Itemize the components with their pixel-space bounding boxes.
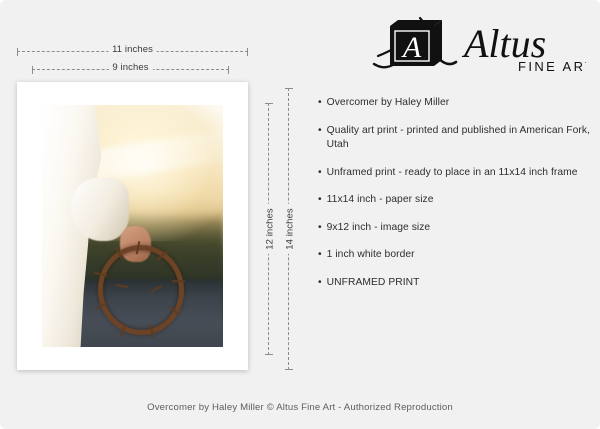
bullet-marker-icon: •	[318, 193, 322, 208]
bullet-marker-icon: •	[318, 124, 322, 153]
list-item-label: UNFRAMED PRINT	[327, 276, 590, 291]
dimension-cap-left	[32, 66, 33, 74]
list-item: • Unframed print - ready to place in an …	[318, 166, 590, 181]
bullet-marker-icon: •	[318, 248, 322, 263]
artwork-robe-sleeve	[71, 178, 129, 241]
dimension-cap-bottom	[265, 354, 273, 355]
brand-logo: A Altus FINE ART	[368, 12, 586, 74]
dimension-line-paper-width: 11 inches	[17, 51, 248, 53]
list-item-label: Unframed print - ready to place in an 11…	[327, 166, 590, 181]
list-item: • Overcomer by Haley Miller	[318, 96, 590, 111]
list-item-label: Overcomer by Haley Miller	[327, 96, 590, 111]
bullet-marker-icon: •	[318, 221, 322, 236]
artwork-image	[42, 105, 223, 347]
product-details-list: • Overcomer by Haley Miller • Quality ar…	[318, 96, 590, 303]
print-white-border	[17, 82, 248, 370]
list-item: • Quality art print - printed and publis…	[318, 124, 590, 153]
bullet-marker-icon: •	[318, 166, 322, 181]
list-item-label: 1 inch white border	[327, 248, 590, 263]
logo-monogram: A	[401, 31, 422, 64]
dimension-label-paper-width: 11 inches	[108, 44, 157, 55]
bullet-marker-icon: •	[318, 96, 322, 111]
list-item: • 1 inch white border	[318, 248, 590, 263]
dimension-cap-top	[265, 103, 273, 104]
dimension-line-image-height: 12 inches	[268, 103, 270, 355]
dimension-line-image-width: 9 inches	[32, 69, 229, 71]
dimension-cap-right	[247, 48, 248, 56]
product-listing-image: 11 inches 9 inches 12 inches 14 inches	[0, 0, 600, 429]
list-item: • 11x14 inch - paper size	[318, 193, 590, 208]
dimension-cap-bottom	[285, 369, 293, 370]
list-item-label: 11x14 inch - paper size	[327, 193, 590, 208]
list-item: • 9x12 inch - image size	[318, 221, 590, 236]
dimension-label-paper-height: 14 inches	[285, 204, 296, 254]
list-item-label: 9x12 inch - image size	[327, 221, 590, 236]
dimension-label-image-width: 9 inches	[108, 62, 152, 73]
logo-tagline: FINE ART	[518, 59, 586, 74]
dimension-line-paper-height: 14 inches	[288, 88, 290, 370]
list-item-label: Quality art print - printed and publishe…	[327, 124, 590, 153]
list-item: • UNFRAMED PRINT	[318, 276, 590, 291]
dimension-cap-left	[17, 48, 18, 56]
dimension-cap-right	[228, 66, 229, 74]
bullet-marker-icon: •	[318, 276, 322, 291]
dimension-cap-top	[285, 88, 293, 89]
copyright-footer: Overcomer by Haley Miller © Altus Fine A…	[0, 402, 600, 413]
dimension-label-image-height: 12 inches	[265, 204, 276, 254]
